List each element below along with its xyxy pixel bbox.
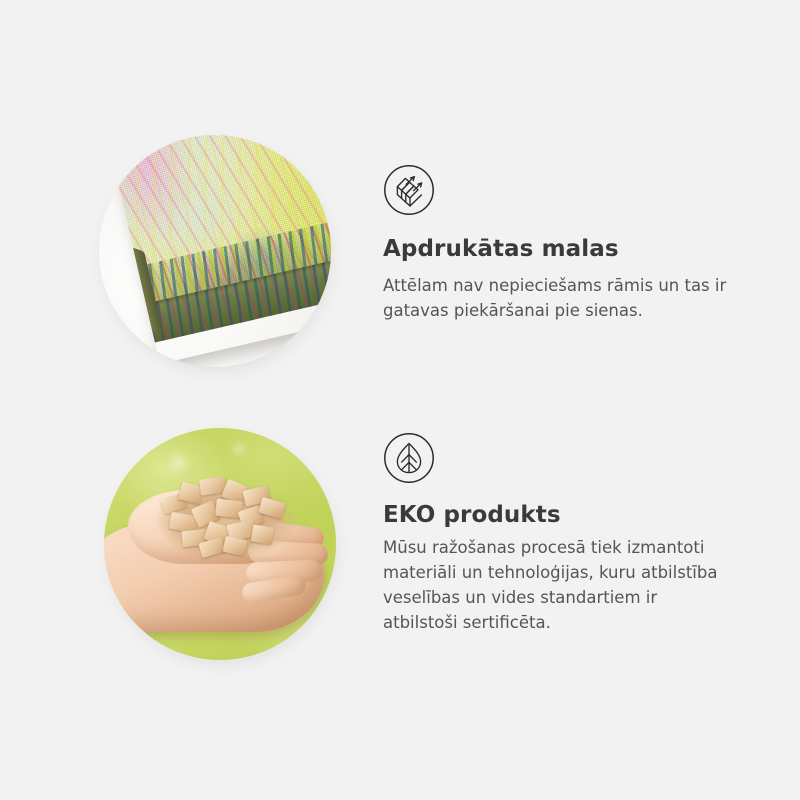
canvas-print-slab (104, 135, 331, 364)
canvas-corner-photo (99, 135, 331, 367)
feature-text-column: EKO produkts Mūsu ražošanas procesā tiek… (383, 432, 748, 635)
leaf-icon (383, 432, 435, 484)
feature-text-column: Apdrukātas malas Attēlam nav nepieciešam… (383, 164, 748, 323)
feature-description: Attēlam nav nepieciešams rāmis un tas ir… (383, 273, 735, 323)
feature-block-eco-product: EKO produkts Mūsu ražošanas procesā tiek… (0, 410, 800, 680)
eco-photo-backdrop (104, 428, 336, 660)
feature-block-printed-edges: Apdrukātas malas Attēlam nav nepieciešam… (0, 120, 800, 390)
canvas-photo-backdrop (99, 135, 331, 367)
wood-chips-pile (156, 474, 296, 560)
product-features-panel: Apdrukātas malas Attēlam nav nepieciešam… (0, 0, 800, 800)
wood-chip (251, 524, 274, 544)
feature-title: Apdrukātas malas (383, 236, 748, 264)
feature-description: Mūsu ražošanas procesā tiek izmantoti ma… (383, 535, 735, 635)
wrapped-canvas-edge-icon (383, 164, 435, 216)
photo-circle-mask (104, 428, 336, 660)
feature-title: EKO produkts (383, 502, 748, 530)
photo-circle-mask (99, 135, 331, 367)
wood-chips-in-hands-photo (104, 428, 336, 660)
